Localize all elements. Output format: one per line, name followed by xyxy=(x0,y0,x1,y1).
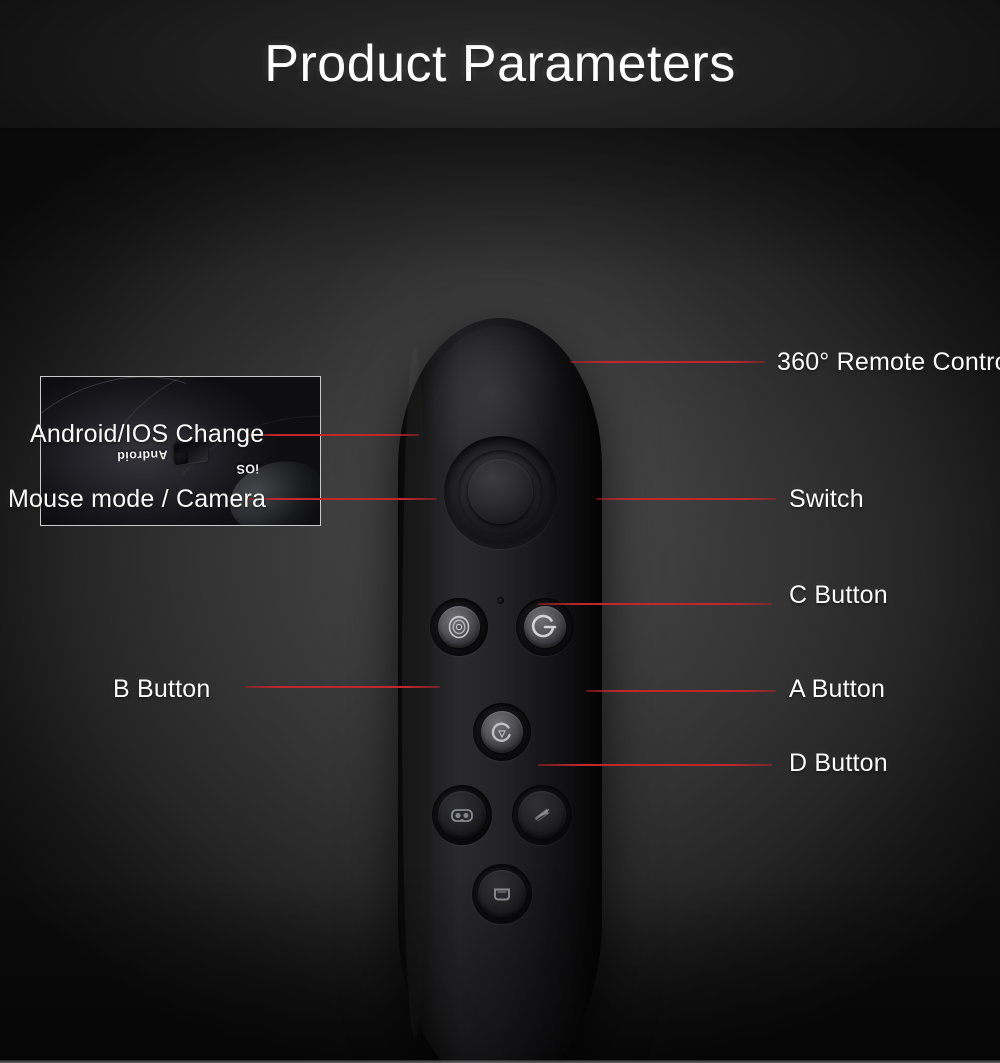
d-button[interactable] xyxy=(472,864,532,924)
header-banner: Product Parameters xyxy=(0,0,1000,128)
slide-switch-knob xyxy=(175,451,188,465)
rounded-square-icon xyxy=(487,879,517,909)
play-triangle-icon xyxy=(527,800,557,830)
callout-label-mouse-mode-camera: Mouse mode / Camera xyxy=(8,485,266,514)
leader-line-android-ios-change xyxy=(247,434,419,436)
leader-line-c-button xyxy=(538,603,772,605)
joystick-well xyxy=(444,436,557,549)
c-return-icon xyxy=(488,718,516,746)
page-title: Product Parameters xyxy=(0,0,1000,128)
callout-label-remote-control: 360° Remote Control xyxy=(777,348,1000,377)
leader-line-switch xyxy=(596,498,776,500)
c-button[interactable] xyxy=(473,703,531,761)
product-parameters-page: Product Parameters iOS Android xyxy=(0,0,1000,1063)
callout-label-android-ios-change: Android/IOS Change xyxy=(30,420,264,449)
leader-line-b-button xyxy=(245,686,440,688)
vr-goggles-icon xyxy=(447,800,477,830)
callout-label-b-button: B Button xyxy=(113,675,211,704)
leader-line-d-button xyxy=(538,764,772,766)
joystick-ring xyxy=(458,450,543,535)
power-switch-button[interactable] xyxy=(516,598,574,656)
camera-mouse-icon xyxy=(444,612,474,642)
remote-controller xyxy=(398,318,602,1063)
inset-label-android: Android xyxy=(117,447,168,463)
status-led xyxy=(497,597,504,604)
callout-label-switch: Switch xyxy=(789,485,864,514)
product-stage: iOS Android xyxy=(0,128,1000,1063)
callout-label-c-button: C Button xyxy=(789,581,888,610)
b-button[interactable] xyxy=(432,785,492,845)
remote-body xyxy=(398,318,602,1063)
power-icon xyxy=(530,612,560,642)
leader-line-a-button xyxy=(586,690,776,692)
callout-label-a-button: A Button xyxy=(789,675,885,704)
leader-line-mouse-mode-camera xyxy=(247,498,437,500)
callout-label-d-button: D Button xyxy=(789,749,888,778)
mouse-mode-camera-button[interactable] xyxy=(430,598,488,656)
joystick-thumb-cap[interactable] xyxy=(468,459,533,524)
leader-line-remote-control xyxy=(570,361,765,363)
a-button[interactable] xyxy=(512,785,572,845)
inset-label-ios: iOS xyxy=(236,461,259,476)
